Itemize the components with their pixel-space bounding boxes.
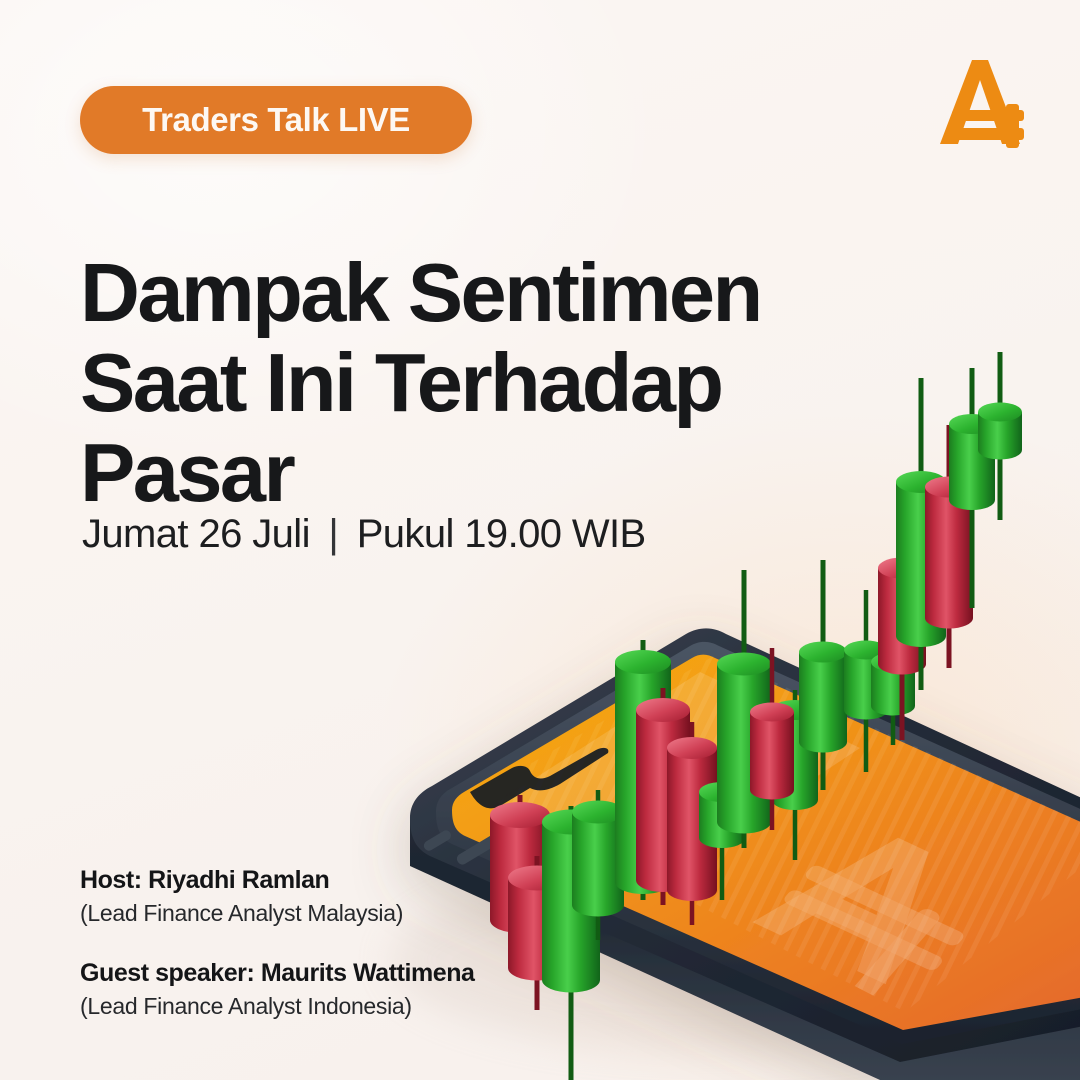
credit-host: Host: Riyadhi Ramlan (Lead Finance Analy…: [80, 866, 475, 927]
credit-guest: Guest speaker: Maurits Wattimena (Lead F…: [80, 959, 475, 1020]
poster-root: Traders Talk LIVE Dampak Sentimen Saat I…: [0, 0, 1080, 1080]
credit-host-name: Host: Riyadhi Ramlan: [80, 866, 475, 895]
credit-host-role: (Lead Finance Analyst Malaysia): [80, 900, 475, 927]
credit-guest-name: Guest speaker: Maurits Wattimena: [80, 959, 475, 988]
credit-guest-role: (Lead Finance Analyst Indonesia): [80, 993, 475, 1020]
credits-block: Host: Riyadhi Ramlan (Lead Finance Analy…: [80, 866, 475, 1020]
